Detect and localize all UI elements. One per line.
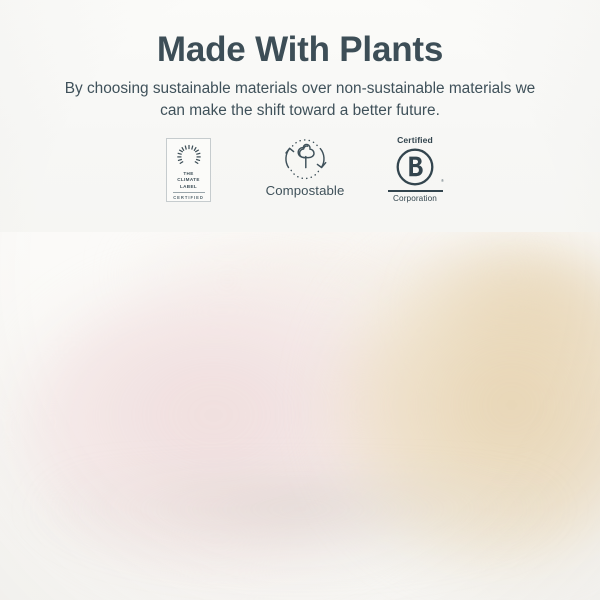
bcorp-corporation-text: Corporation (384, 195, 446, 203)
compostable-clover-arrows-icon (276, 136, 334, 180)
certification-badge-row: THE CLIMATE LABEL CERTIFIED (0, 134, 600, 214)
header-panel: Made With Plants By choosing sustainable… (0, 0, 600, 232)
climate-sunburst-icon (176, 143, 202, 169)
climate-divider (173, 192, 205, 193)
compostable-label: Compostable (262, 183, 348, 198)
page-title: Made With Plants (0, 31, 600, 70)
b-corp-circle-b-icon (395, 147, 435, 187)
climate-certified-text: CERTIFIED (173, 195, 204, 200)
bcorp-trademark-symbol: ® (441, 178, 444, 183)
badge-climate-label[interactable]: THE CLIMATE LABEL CERTIFIED (166, 138, 211, 202)
bcorp-divider (388, 190, 443, 192)
badge-compostable[interactable]: Compostable (262, 136, 348, 198)
bcorp-certified-text: Certified (384, 136, 446, 145)
subheadline: By choosing sustainable materials over n… (58, 78, 542, 122)
climate-line-2: CLIMATE (177, 177, 200, 183)
badge-b-corp[interactable]: Certified ® Corporation (384, 136, 446, 203)
climate-label-wordmark: THE CLIMATE LABEL (177, 171, 200, 190)
climate-line-3: LABEL (177, 184, 200, 190)
promo-image: Made With Plants By choosing sustainable… (0, 0, 600, 600)
